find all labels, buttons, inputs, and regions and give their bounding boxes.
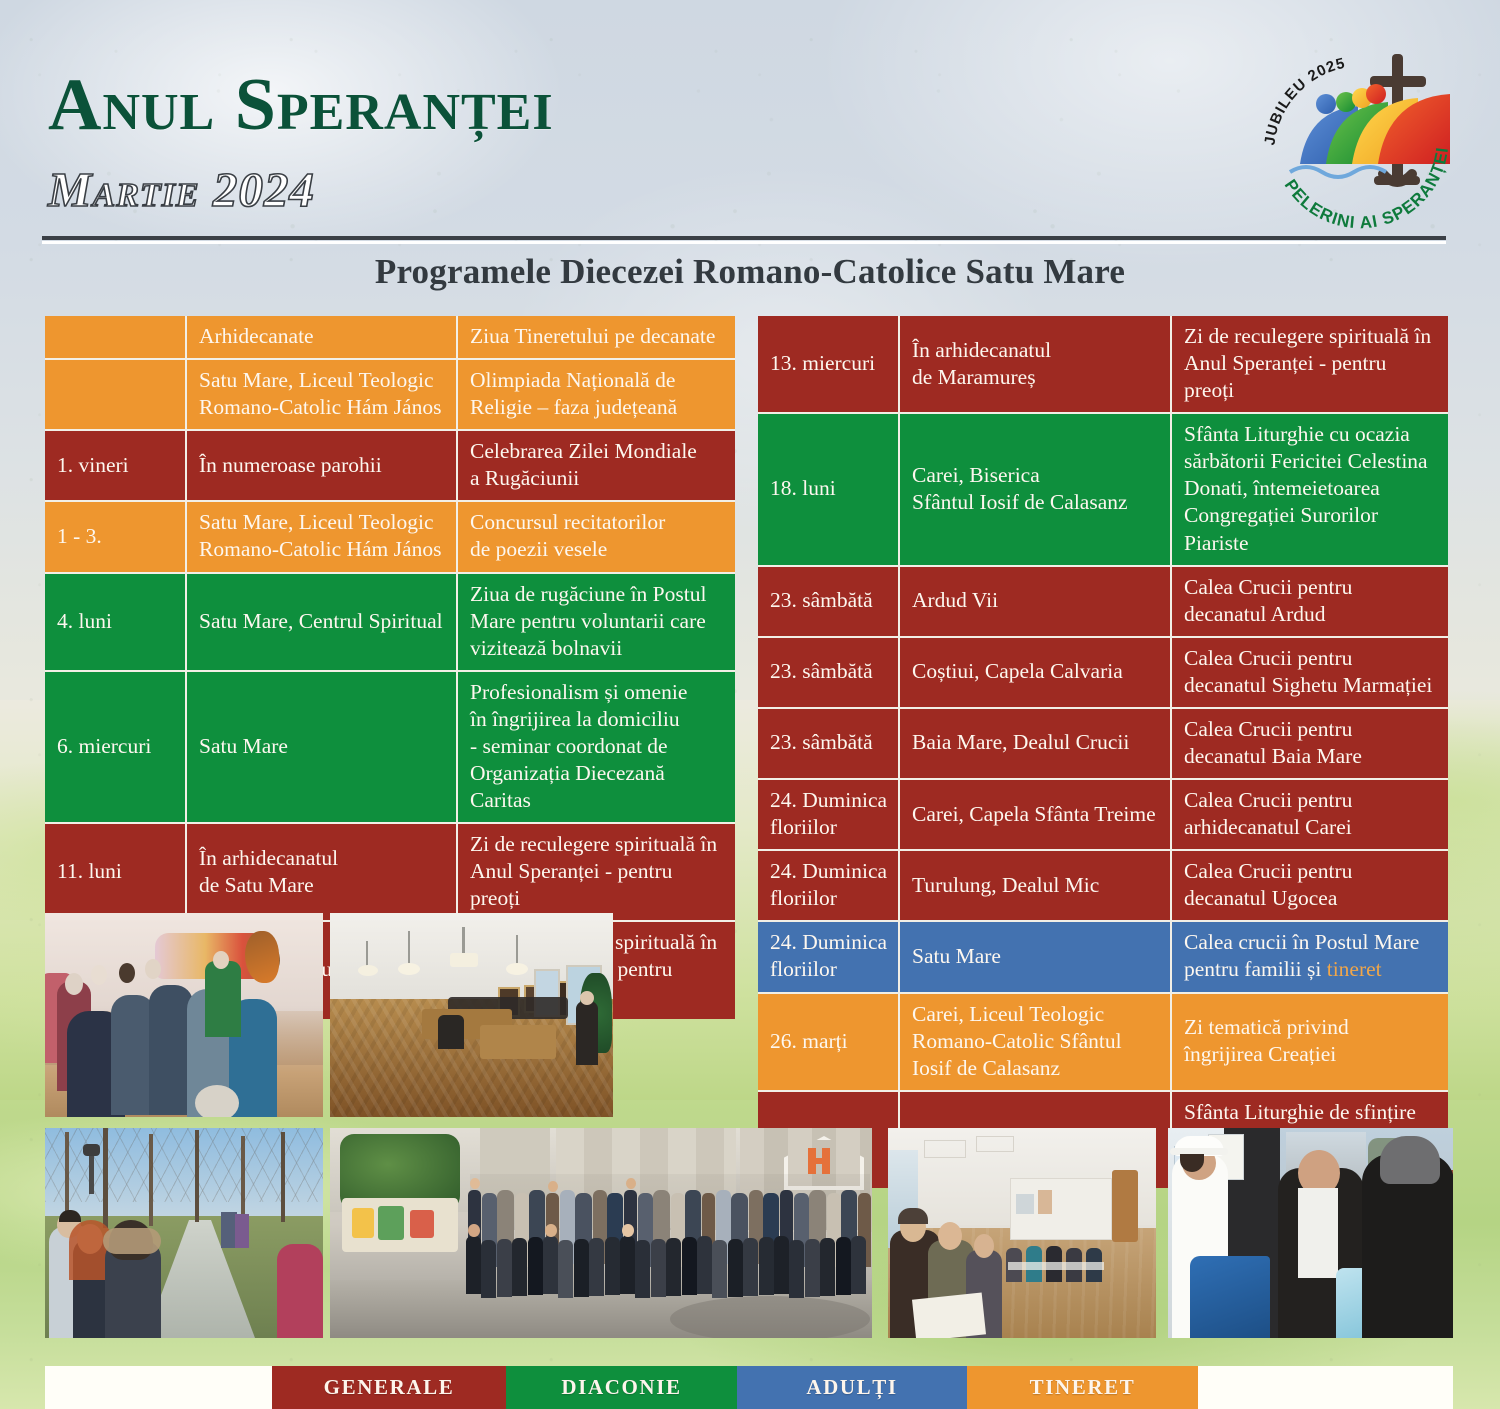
legend-spacer xyxy=(1198,1366,1453,1409)
table-row: 1 - 3.Satu Mare, Liceul Teologic Romano-… xyxy=(45,502,735,573)
table-row: 26. marțiCarei, Liceul Teologic Romano-C… xyxy=(758,994,1448,1092)
table-row: 11. luniÎn arhidecanatul de Satu MareZi … xyxy=(45,824,735,922)
row-description: Concursul recitatorilor de poezii vesele xyxy=(458,502,735,573)
row-description: Ziua de rugăciune în Postul Mare pentru … xyxy=(458,574,735,672)
row-place: Satu Mare, Liceul Teologic Romano-Catoli… xyxy=(187,360,458,431)
photo-youth-gathering-church xyxy=(45,913,323,1117)
table-row: ArhidecanateZiua Tineretului pe decanate xyxy=(45,316,735,360)
row-description: Zi de reculegere spirituală în Anul Sper… xyxy=(458,824,735,922)
row-date xyxy=(45,316,187,360)
section-title: Programele Diecezei Romano-Catolice Satu… xyxy=(0,252,1500,292)
jubilee-2025-logo-icon: JUBILEU 2025 PELERINI AI SPERANȚEI xyxy=(1252,36,1467,236)
table-row: Satu Mare, Liceul Teologic Romano-Catoli… xyxy=(45,360,735,431)
pilgrim-figures-icon xyxy=(1300,84,1450,164)
legend-spacer xyxy=(45,1366,272,1409)
row-date: 23. sâmbătă xyxy=(758,638,900,709)
legend-item-diaconie[interactable]: DIACONIE xyxy=(506,1366,737,1409)
table-row: 23. sâmbătăBaia Mare, Dealul CruciiCalea… xyxy=(758,709,1448,780)
row-description: Profesionalism și omenie în îngrijirea l… xyxy=(458,672,735,824)
row-description: Calea Crucii pentru decanatul Sighetu Ma… xyxy=(1172,638,1448,709)
row-description: Calea Crucii pentru decanatul Ugocea xyxy=(1172,851,1448,922)
row-description: Calea Crucii pentru arhidecanatul Carei xyxy=(1172,780,1448,851)
row-date: 24. Duminica floriilor xyxy=(758,780,900,851)
table-row: 24. Duminica floriilorCarei, Capela Sfân… xyxy=(758,780,1448,851)
photo-seminar-room-participants xyxy=(888,1128,1156,1338)
row-place: Satu Mare xyxy=(900,922,1172,993)
legend-item-tineret[interactable]: TINERET xyxy=(967,1366,1198,1409)
row-date: 1 - 3. xyxy=(45,502,187,573)
table-row: 23. sâmbătăCoștiui, Capela CalvariaCalea… xyxy=(758,638,1448,709)
row-date: 11. luni xyxy=(45,824,187,922)
row-description: Olimpiada Națională de Religie – faza ju… xyxy=(458,360,735,431)
table-row: 23. sâmbătăArdud ViiCalea Crucii pentru … xyxy=(758,567,1448,638)
row-description: Calea crucii în Postul Mare pentru famil… xyxy=(1172,922,1448,993)
highlight-tineret: tineret xyxy=(1327,957,1382,981)
month-subtitle: Martie 2024 xyxy=(48,165,315,214)
photo-large-group-indoor xyxy=(330,1128,872,1338)
row-date: 23. sâmbătă xyxy=(758,709,900,780)
row-place: Satu Mare, Liceul Teologic Romano-Catoli… xyxy=(187,502,458,573)
table-row: 18. luniCarei, Biserica Sfântul Iosif de… xyxy=(758,414,1448,566)
photo-priests-meeting-hall xyxy=(330,913,613,1117)
row-place: Turulung, Dealul Mic xyxy=(900,851,1172,922)
row-date: 13. miercuri xyxy=(758,316,900,414)
row-place: Baia Mare, Dealul Crucii xyxy=(900,709,1172,780)
photo-caritas-food-distribution xyxy=(1168,1128,1453,1338)
table-row: 13. miercuriÎn arhidecanatul de Maramure… xyxy=(758,316,1448,414)
row-date: 24. Duminica floriilor xyxy=(758,922,900,993)
row-date: 6. miercuri xyxy=(45,672,187,824)
row-description: Sfânta Liturghie cu ocazia sărbătorii Fe… xyxy=(1172,414,1448,566)
row-place: Arhidecanate xyxy=(187,316,458,360)
row-place: Satu Mare, Centrul Spiritual xyxy=(187,574,458,672)
legend-item-adulti[interactable]: ADULȚI xyxy=(737,1366,967,1409)
row-place: În arhidecanatul de Maramureș xyxy=(900,316,1172,414)
row-place: Carei, Biserica Sfântul Iosif de Calasan… xyxy=(900,414,1172,566)
row-description: Ziua Tineretului pe decanate xyxy=(458,316,735,360)
row-place: Ardud Vii xyxy=(900,567,1172,638)
category-legend: GENERALEDIACONIEADULȚITINERET xyxy=(45,1366,1453,1409)
jubilee-2025-logo: JUBILEU 2025 PELERINI AI SPERANȚEI xyxy=(1252,36,1467,236)
page-title: Anul Speranței xyxy=(48,68,554,142)
row-date: 4. luni xyxy=(45,574,187,672)
row-place: În numeroase parohii xyxy=(187,431,458,502)
row-place: În arhidecanatul de Satu Mare xyxy=(187,824,458,922)
row-place: Satu Mare xyxy=(187,672,458,824)
row-date: 24. Duminica floriilor xyxy=(758,851,900,922)
row-place: Carei, Liceul Teologic Romano-Catolic Sf… xyxy=(900,994,1172,1092)
legend-item-generale[interactable]: GENERALE xyxy=(272,1366,506,1409)
header-divider-rule xyxy=(42,236,1446,243)
table-row: 24. Duminica floriilorTurulung, Dealul M… xyxy=(758,851,1448,922)
row-description: Zi tematică privind îngrijirea Creației xyxy=(1172,994,1448,1092)
row-date: 26. marți xyxy=(758,994,900,1092)
row-place: Coștiui, Capela Calvaria xyxy=(900,638,1172,709)
row-description: Celebrarea Zilei Mondiale a Rugăciunii xyxy=(458,431,735,502)
wave-icon xyxy=(1290,167,1386,177)
table-row: 6. miercuriSatu MareProfesionalism și om… xyxy=(45,672,735,824)
schedule-table-right: 13. miercuriÎn arhidecanatul de Maramure… xyxy=(758,316,1448,1188)
row-description: Calea Crucii pentru decanatul Ardud xyxy=(1172,567,1448,638)
row-date: 1. vineri xyxy=(45,431,187,502)
table-row: 1. vineriÎn numeroase parohiiCelebrarea … xyxy=(45,431,735,502)
row-place: Carei, Capela Sfânta Treime xyxy=(900,780,1172,851)
row-description: Zi de reculegere spirituală în Anul Sper… xyxy=(1172,316,1448,414)
row-date: 18. luni xyxy=(758,414,900,566)
row-date: 23. sâmbătă xyxy=(758,567,900,638)
photo-outdoor-walk-park xyxy=(45,1128,323,1338)
row-description: Calea Crucii pentru decanatul Baia Mare xyxy=(1172,709,1448,780)
row-date xyxy=(45,360,187,431)
table-row: 24. Duminica floriilorSatu MareCalea cru… xyxy=(758,922,1448,993)
table-row: 4. luniSatu Mare, Centrul SpiritualZiua … xyxy=(45,574,735,672)
